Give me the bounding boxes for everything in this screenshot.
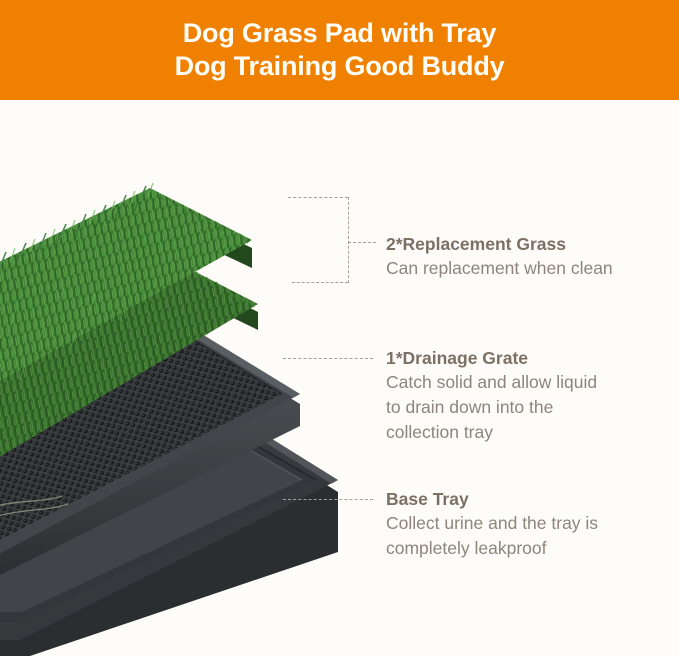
callout-base-tray: Base Tray Collect urine and the tray is … (386, 487, 674, 561)
connector-drainage-grate (283, 358, 373, 359)
connector-line-top (288, 197, 348, 198)
callout-body-line: collection tray (386, 420, 674, 445)
callout-body-line: completely leakproof (386, 536, 674, 561)
product-infographic: Dog Grass Pad with Tray Dog Training Goo… (0, 0, 679, 656)
connector-line-vertical (348, 197, 349, 283)
callout-body-line: Collect urine and the tray is (386, 511, 674, 536)
connector-line-stub (348, 242, 376, 243)
header-banner: Dog Grass Pad with Tray Dog Training Goo… (0, 0, 679, 100)
callout-body: Collect urine and the tray is completely… (386, 511, 674, 561)
callout-body-line: Can replacement when clean (386, 256, 674, 281)
callout-title: 2*Replacement Grass (386, 232, 674, 256)
callout-body-line: Catch solid and allow liquid (386, 370, 674, 395)
connector-base-tray (283, 499, 373, 500)
banner-title-line-2: Dog Training Good Buddy (175, 50, 505, 83)
product-illustration (0, 100, 340, 656)
banner-title-line-1: Dog Grass Pad with Tray (183, 17, 497, 50)
callout-title: 1*Drainage Grate (386, 346, 674, 370)
product-image (0, 100, 340, 656)
callout-title: Base Tray (386, 487, 674, 511)
connector-line-bottom (292, 282, 348, 283)
callout-replacement-grass: 2*Replacement Grass Can replacement when… (386, 232, 674, 281)
callout-body: Can replacement when clean (386, 256, 674, 281)
callout-body: Catch solid and allow liquid to drain do… (386, 370, 674, 445)
callout-drainage-grate: 1*Drainage Grate Catch solid and allow l… (386, 346, 674, 445)
callout-body-line: to drain down into the (386, 395, 674, 420)
